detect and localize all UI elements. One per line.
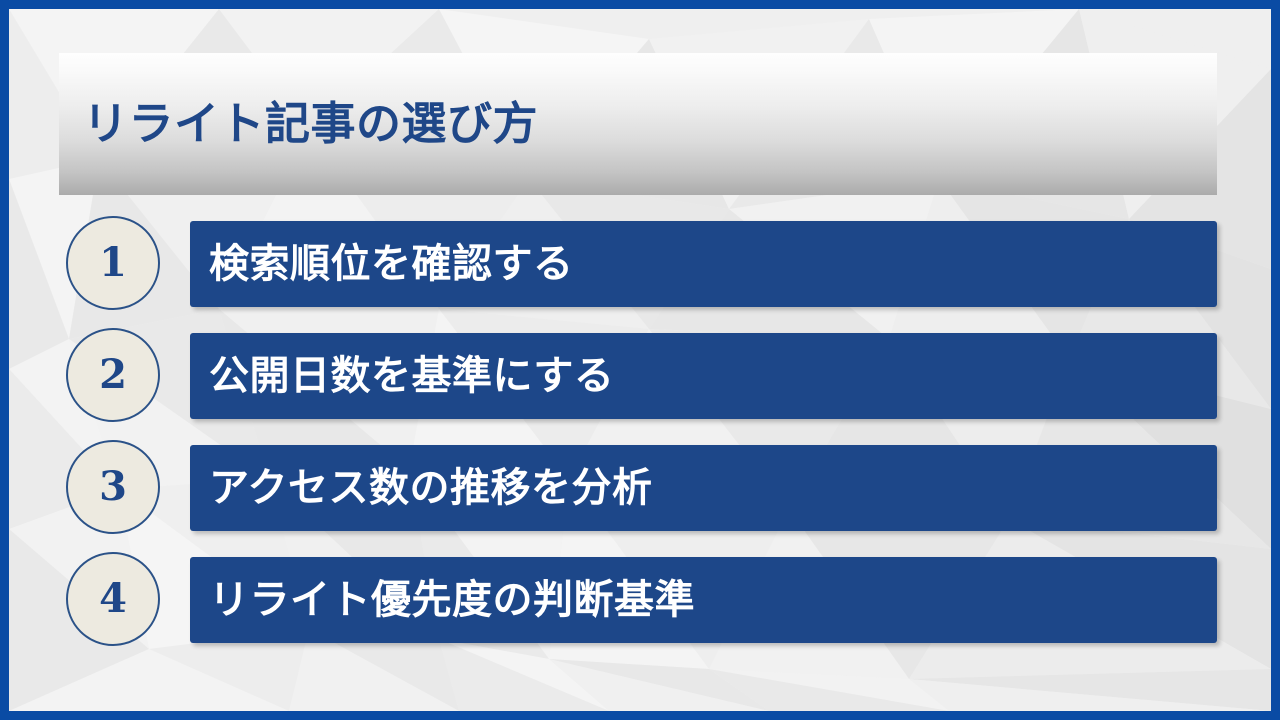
list-item[interactable]: 3 アクセス数の推移を分析 bbox=[9, 445, 1271, 531]
list-item[interactable]: 4 リライト優先度の判断基準 bbox=[9, 557, 1271, 643]
numbered-step-list: 1 検索順位を確認する 2 公開日数を基準にする 3 アクセ bbox=[9, 221, 1271, 669]
step-bar[interactable]: 検索順位を確認する bbox=[190, 221, 1217, 307]
step-number-label: 1 bbox=[99, 243, 127, 283]
step-number-circle: 1 bbox=[66, 216, 160, 310]
step-number-circle: 3 bbox=[66, 440, 160, 534]
step-bar[interactable]: リライト優先度の判断基準 bbox=[190, 557, 1217, 643]
step-bar-label: リライト優先度の判断基準 bbox=[209, 578, 695, 622]
step-number-circle: 2 bbox=[66, 328, 160, 422]
step-bar[interactable]: アクセス数の推移を分析 bbox=[190, 445, 1217, 531]
step-bar-label: 検索順位を確認する bbox=[209, 242, 574, 286]
slide-content-area: リライト記事の選び方 1 検索順位を確認する 2 公開日数を基準にする bbox=[9, 9, 1271, 711]
title-banner: リライト記事の選び方 bbox=[59, 53, 1217, 195]
step-number-label: 4 bbox=[99, 579, 127, 619]
step-number-label: 3 bbox=[99, 467, 127, 507]
step-bar-label: 公開日数を基準にする bbox=[209, 354, 614, 398]
list-item[interactable]: 1 検索順位を確認する bbox=[9, 221, 1271, 307]
step-bar[interactable]: 公開日数を基準にする bbox=[190, 333, 1217, 419]
step-bar-label: アクセス数の推移を分析 bbox=[209, 466, 653, 510]
step-number-label: 2 bbox=[99, 355, 127, 395]
slide: リライト記事の選び方 1 検索順位を確認する 2 公開日数を基準にする bbox=[0, 0, 1280, 720]
list-item[interactable]: 2 公開日数を基準にする bbox=[9, 333, 1271, 419]
step-number-circle: 4 bbox=[66, 552, 160, 646]
page-title: リライト記事の選び方 bbox=[83, 99, 538, 149]
